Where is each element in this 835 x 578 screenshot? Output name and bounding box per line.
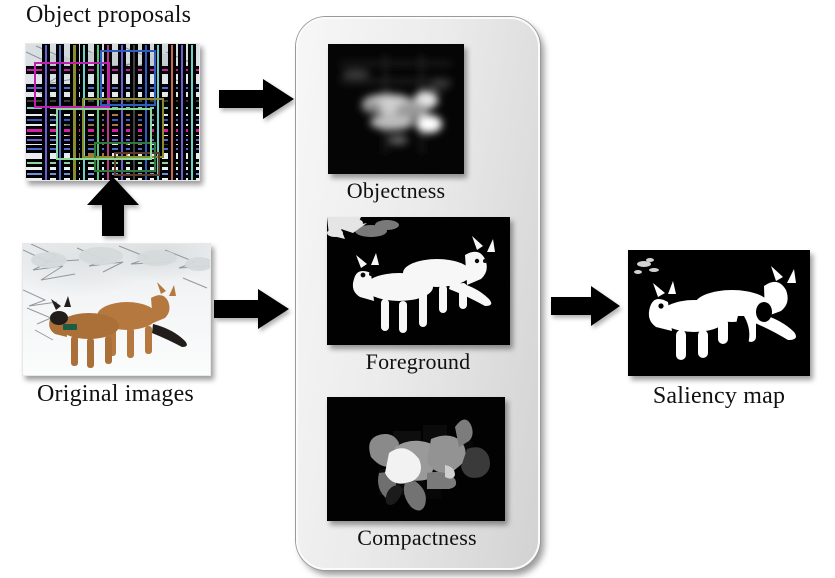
proposal-box [56, 108, 152, 160]
compactness-map [327, 397, 505, 521]
compactness-label: Compactness [316, 525, 518, 551]
foreground-label: Foreground [320, 349, 516, 375]
proposal-box [178, 43, 186, 181]
original-images-label: Original images [22, 381, 209, 408]
proposal-box [188, 43, 196, 181]
arrow-proposals-to-objectness [219, 78, 295, 120]
object-proposals-title: Object proposals [26, 2, 191, 29]
arrow-original-to-proposals [86, 177, 140, 237]
saliency-map-label: Saliency map [620, 383, 818, 410]
foreground-map [327, 217, 510, 345]
original-image [22, 243, 211, 376]
proposals-scene [26, 44, 199, 180]
proposal-box [168, 43, 176, 181]
objectness-map [328, 44, 464, 174]
arrow-cues-to-saliency [551, 285, 621, 327]
saliency-map [628, 250, 810, 376]
objectness-label: Objectness [316, 178, 476, 204]
arrow-original-to-cues [214, 288, 290, 330]
figure-canvas: Object proposals [0, 0, 835, 578]
object-proposals-image [25, 43, 200, 181]
original-scene [23, 244, 210, 375]
